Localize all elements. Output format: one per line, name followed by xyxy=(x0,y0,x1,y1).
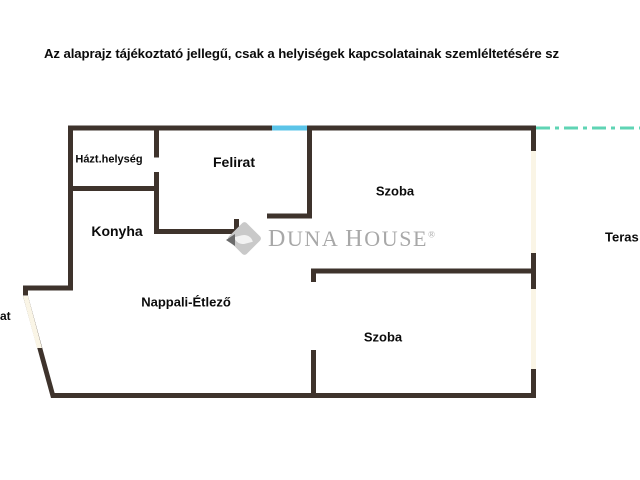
window-blue-top xyxy=(272,126,312,131)
window-cream-left xyxy=(23,296,42,348)
room-label-terasz: Teras xyxy=(605,231,639,244)
wall-szoba-lower-left-upper xyxy=(311,269,316,283)
wall-szoba-upper-bottom xyxy=(311,269,535,274)
floor-plan-canvas: Az alaprajz tájékoztató jellegű, csak a … xyxy=(0,0,640,480)
wall-konyha-doorjamb xyxy=(234,219,239,234)
wall-konyha-right xyxy=(154,186,159,233)
wall-bottom xyxy=(51,393,535,398)
wall-top-left xyxy=(68,126,272,131)
window-cream-right-upper xyxy=(531,151,536,253)
floor-plan-drawing xyxy=(0,0,640,480)
wall-entry-stub xyxy=(23,286,28,296)
room-label-eloszoba-clipped: at xyxy=(0,310,11,322)
wall-szoba-lower-left-lower xyxy=(311,350,316,398)
room-label-nappali-etlezo: Nappali-Étlező xyxy=(141,296,231,309)
wall-top-right xyxy=(312,126,536,131)
room-label-felirat: Felirat xyxy=(213,155,255,169)
room-label-hazt-helyseg: Házt.helység xyxy=(75,155,142,166)
wall-hazt-right-upper xyxy=(154,126,159,158)
wall-right-stub-bottom xyxy=(531,369,536,398)
room-label-konyha: Konyha xyxy=(91,224,142,238)
room-label-szoba-lower: Szoba xyxy=(364,331,402,344)
wall-hazt-bottom xyxy=(68,186,159,191)
wall-felirat-bottom xyxy=(267,214,312,219)
wall-right-stub-top xyxy=(531,126,536,152)
wall-konyha-top xyxy=(68,186,73,191)
wall-felirat-right xyxy=(307,126,312,219)
wall-konyha-bottom xyxy=(154,229,234,234)
wall-entry-jog xyxy=(23,286,73,291)
wall-nappali-left xyxy=(68,233,73,290)
window-cream-szoba-lower-left xyxy=(311,282,316,350)
window-cream-right-lower xyxy=(531,289,536,369)
room-label-szoba-upper: Szoba xyxy=(376,185,414,198)
